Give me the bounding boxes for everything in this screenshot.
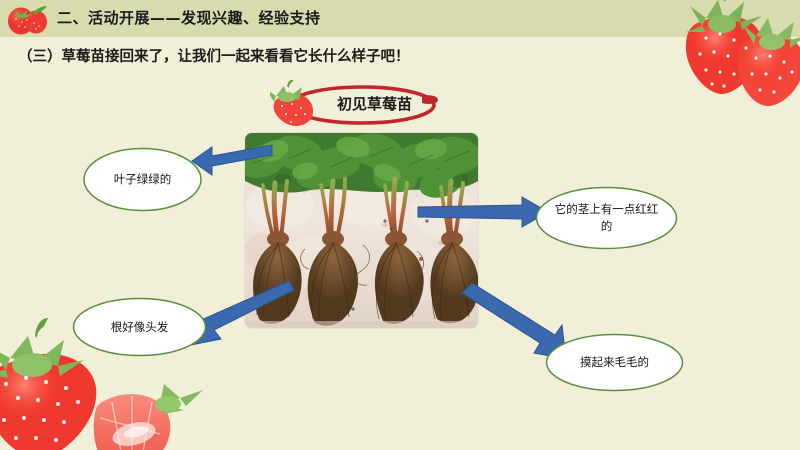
callout-fuzzy: 摸起来毛毛的 bbox=[545, 333, 684, 392]
strawberry-seedlings-photo bbox=[245, 133, 478, 328]
strawberry-icon bbox=[270, 80, 313, 126]
callout-leaves: 叶子绿绿的 bbox=[82, 146, 203, 213]
slide-canvas: 二、活动开展——发现兴趣、经验支持 （三）草莓苗接回来了，让我们一起来看看它长什… bbox=[0, 0, 800, 450]
badge-chu-jian-cao-mei-miao: 初见草莓苗 bbox=[270, 80, 445, 128]
callout-stem-text: 它的茎上有一点红红的 bbox=[535, 186, 678, 250]
callout-leaves-text: 叶子绿绿的 bbox=[82, 146, 203, 213]
callout-roots-text: 根好像头发 bbox=[72, 297, 207, 357]
callout-stem: 它的茎上有一点红红的 bbox=[535, 186, 678, 250]
page-title: 二、活动开展——发现兴趣、经验支持 bbox=[57, 7, 321, 28]
callout-roots: 根好像头发 bbox=[72, 297, 207, 357]
callout-fuzzy-text: 摸起来毛毛的 bbox=[545, 333, 684, 392]
badge-label: 初见草莓苗 bbox=[312, 93, 437, 114]
subtitle-text: （三）草莓苗接回来了，让我们一起来看看它长什么样子吧！ bbox=[18, 45, 410, 66]
